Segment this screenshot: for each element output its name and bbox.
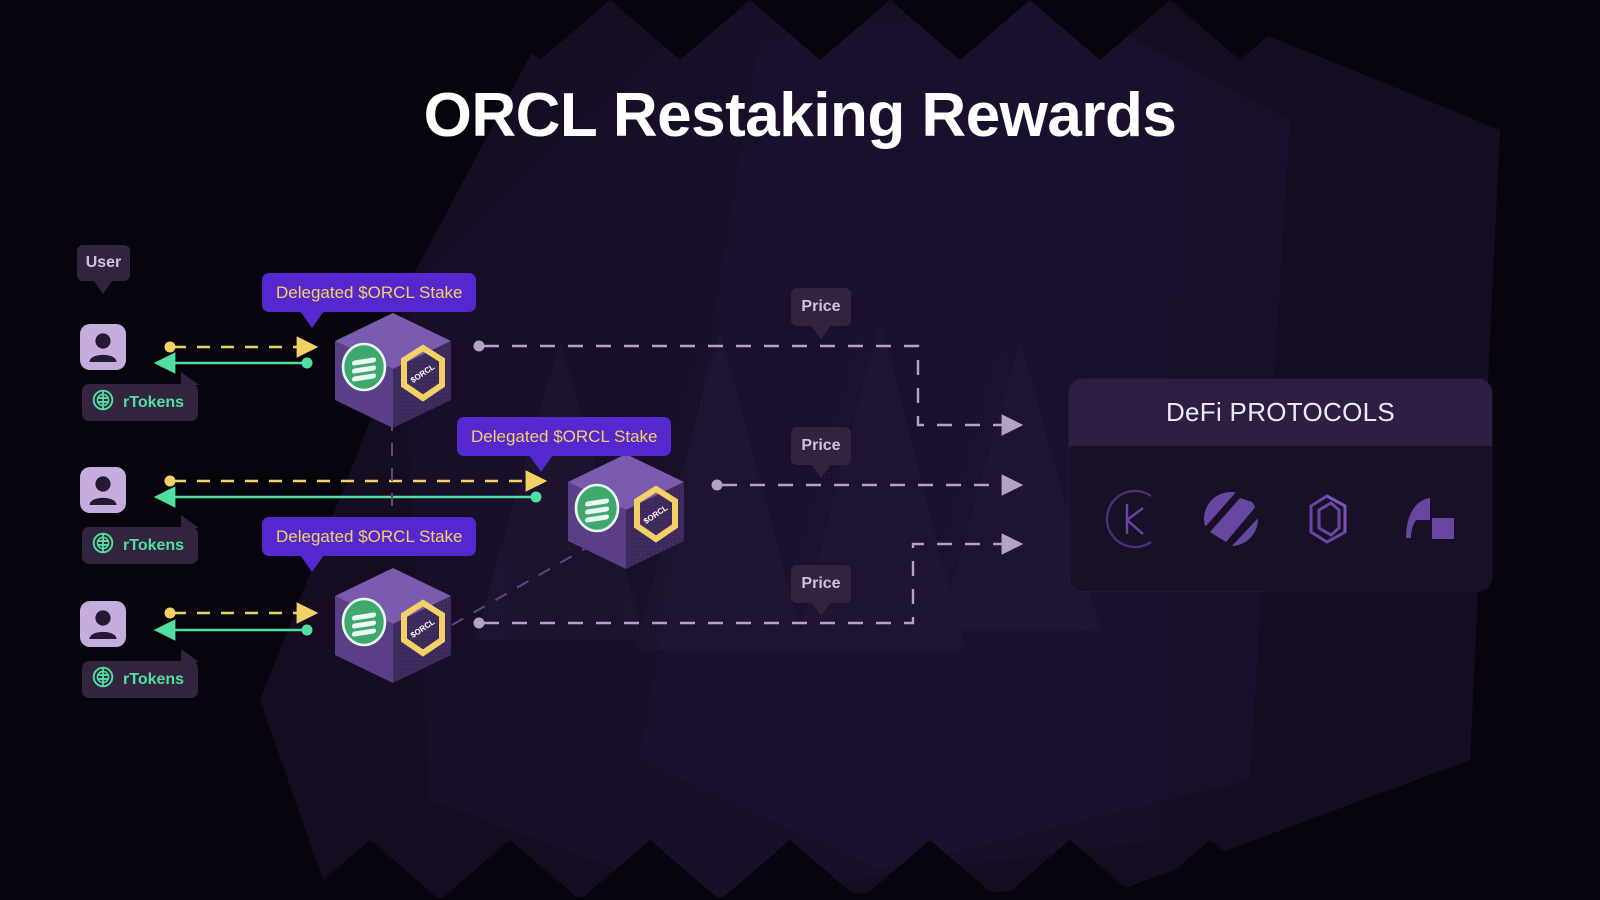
rtokens-label: rTokens — [123, 671, 184, 689]
stake-label: Delegated $ORCL Stake — [457, 417, 671, 456]
price-label-text: Price — [801, 298, 840, 316]
defi-protocol-list — [1069, 446, 1492, 591]
price-label: Price — [791, 427, 851, 465]
protocol-wave-square-icon[interactable] — [1393, 483, 1465, 555]
rtokens-badge: rTokens — [82, 527, 198, 564]
rtokens-badge: rTokens — [82, 384, 198, 421]
rtokens-badge: rTokens — [82, 661, 198, 698]
stake-label-text: Delegated $ORCL Stake — [276, 283, 462, 303]
orcl-node-cube: $ORCL — [331, 311, 455, 436]
price-label: Price — [791, 565, 851, 603]
protocol-layered-cube-icon[interactable] — [1294, 483, 1366, 555]
stake-label-text: Delegated $ORCL Stake — [471, 427, 657, 447]
protocol-stripes-circle-icon[interactable] — [1195, 483, 1267, 555]
orcl-node-cube: $ORCL — [564, 452, 688, 577]
protocol-kamino-icon[interactable] — [1096, 483, 1168, 555]
defi-panel-title: DeFi PROTOCOLS — [1166, 397, 1395, 428]
user-avatar-icon — [80, 324, 126, 370]
defi-protocols-panel: DeFi PROTOCOLS — [1069, 379, 1492, 591]
rtoken-coin-icon — [92, 532, 114, 559]
defi-panel-header: DeFi PROTOCOLS — [1069, 379, 1492, 446]
rtokens-label: rTokens — [123, 537, 184, 555]
rtoken-coin-icon — [92, 666, 114, 693]
price-label: Price — [791, 288, 851, 326]
stake-label: Delegated $ORCL Stake — [262, 517, 476, 556]
price-label-text: Price — [801, 575, 840, 593]
page-title: ORCL Restaking Rewards — [0, 80, 1600, 151]
user-tag-label: User — [86, 254, 122, 272]
rtokens-label: rTokens — [123, 394, 184, 412]
stake-label: Delegated $ORCL Stake — [262, 273, 476, 312]
stake-label-text: Delegated $ORCL Stake — [276, 527, 462, 547]
diagram-canvas: ORCL Restaking Rewards — [0, 0, 1600, 900]
user-avatar-icon — [80, 601, 126, 647]
user-avatar-icon — [80, 467, 126, 513]
user-tag: User — [77, 245, 130, 281]
orcl-node-cube: $ORCL — [331, 566, 455, 691]
rtoken-coin-icon — [92, 389, 114, 416]
price-label-text: Price — [801, 437, 840, 455]
